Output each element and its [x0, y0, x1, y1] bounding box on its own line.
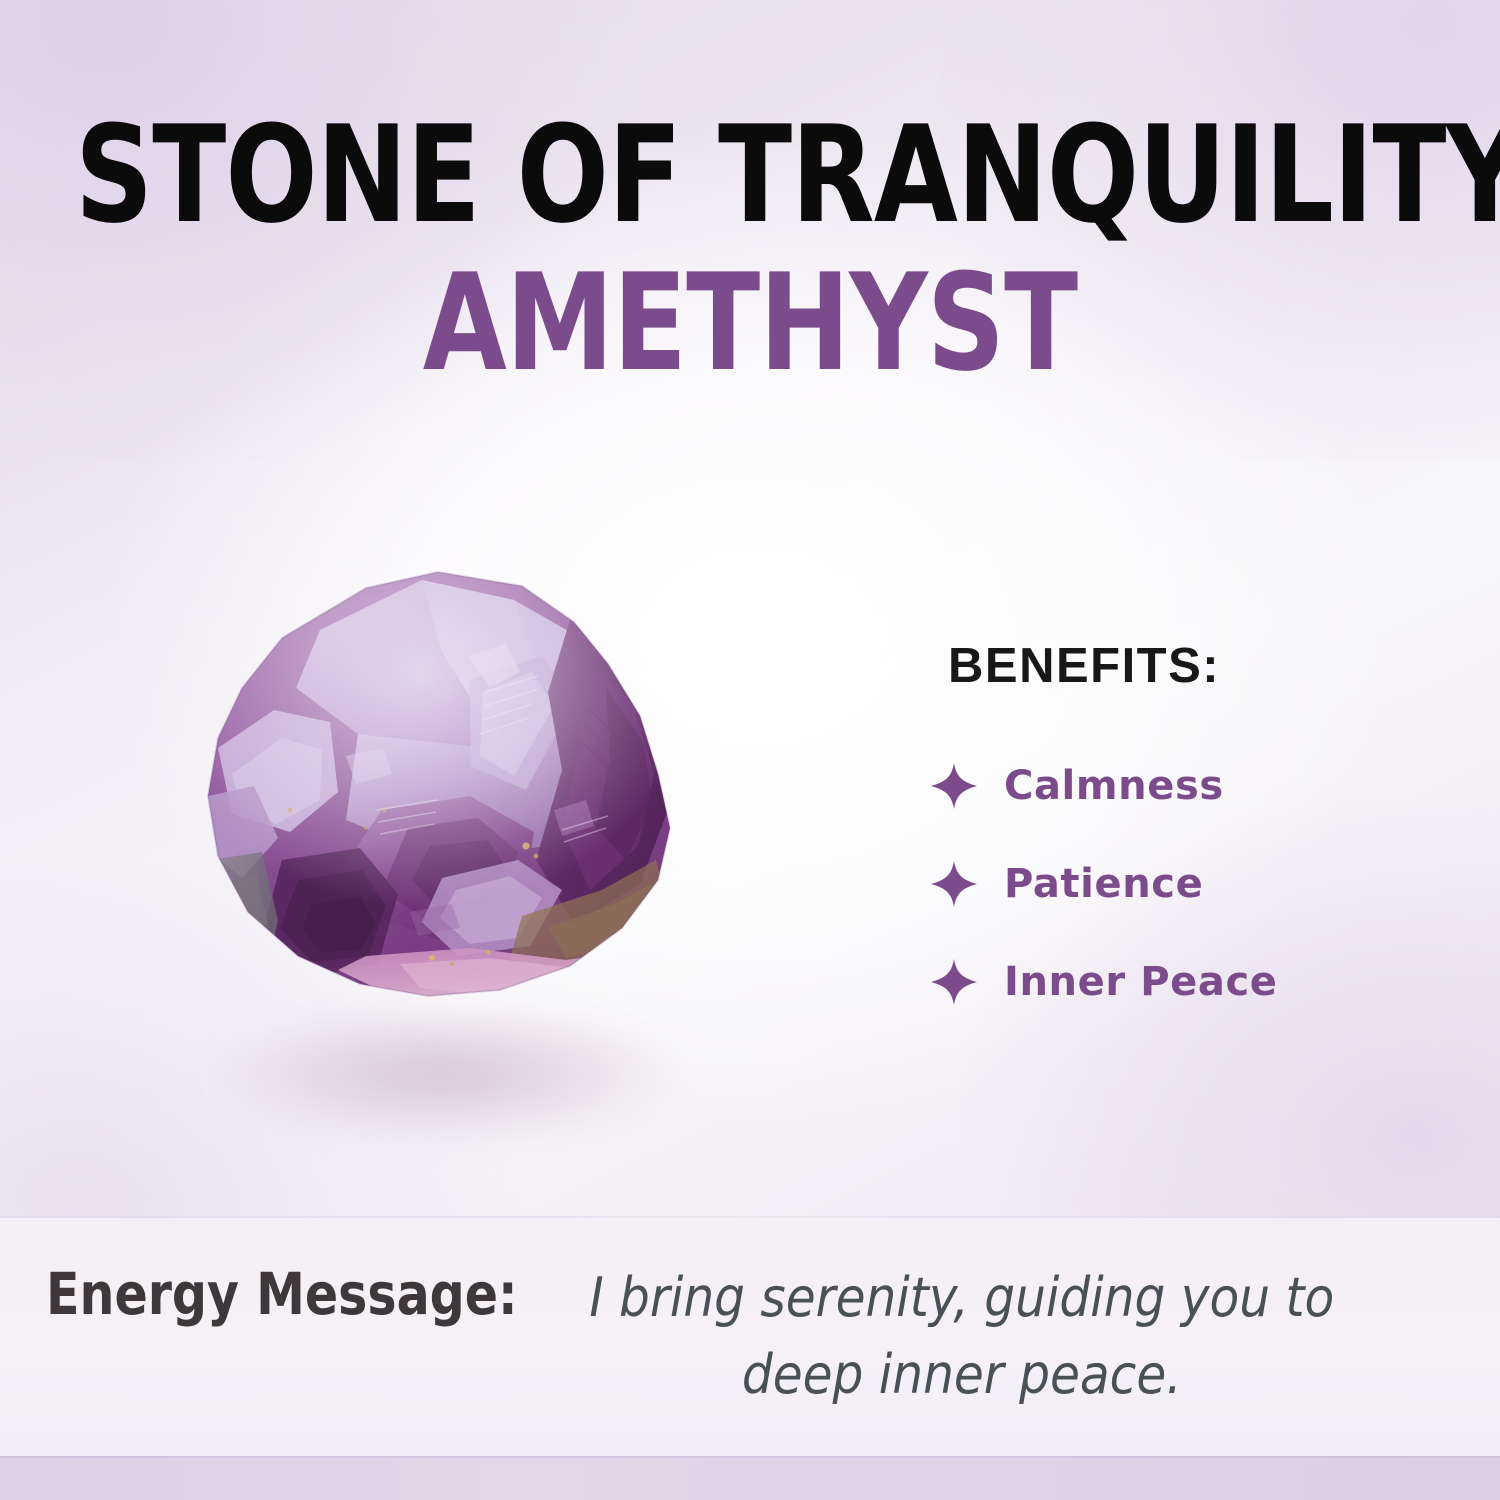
benefits-heading: BENEFITS: — [930, 638, 1400, 694]
energy-message-panel: Energy Message: I bring serenity, guidin… — [0, 1218, 1500, 1456]
benefit-item-inner-peace: Inner Peace — [930, 956, 1400, 1008]
benefit-item-patience: Patience — [930, 858, 1400, 910]
sparkle-icon — [930, 860, 978, 908]
footer-bar — [0, 1456, 1500, 1500]
benefit-item-calmness: Calmness — [930, 760, 1400, 812]
energy-message-text: I bring serenity, guiding you to deep in… — [572, 1260, 1352, 1413]
energy-message-row: Energy Message: I bring serenity, guidin… — [46, 1260, 1440, 1413]
poster-canvas: STONE OF TRANQUILITY AMETHYST — [0, 0, 1500, 1500]
benefit-label: Calmness — [1004, 763, 1224, 809]
page-title: STONE OF TRANQUILITY — [75, 108, 1425, 242]
sparkle-icon — [930, 762, 978, 810]
crystal-image-area — [140, 540, 800, 1160]
benefits-section: BENEFITS: Calmness Patience — [930, 638, 1400, 1008]
page-subtitle-stone-name: AMETHYST — [75, 256, 1425, 390]
amethyst-crystal-icon — [170, 560, 770, 1080]
benefit-label: Inner Peace — [1004, 959, 1278, 1005]
sparkle-icon — [930, 958, 978, 1006]
energy-message-label: Energy Message: — [46, 1260, 518, 1328]
footer-bar-top-edge — [0, 1456, 1500, 1458]
benefit-label: Patience — [1004, 861, 1203, 907]
poster-header: STONE OF TRANQUILITY AMETHYST — [0, 108, 1500, 390]
section-divider — [0, 1216, 1500, 1218]
